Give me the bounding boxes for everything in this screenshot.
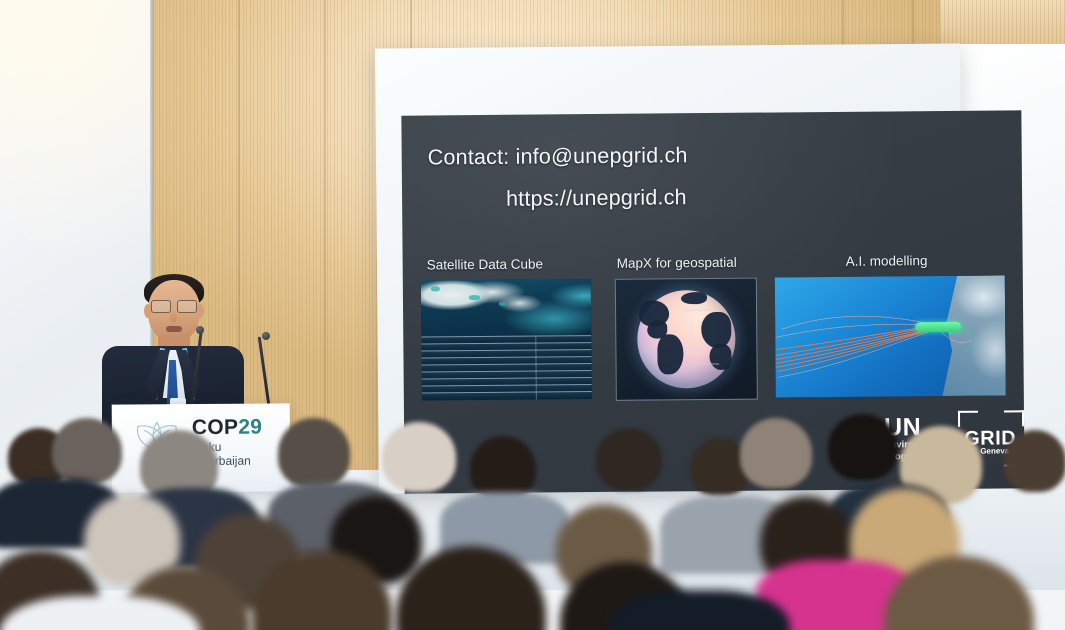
globe: North Atlantic Ocean South Atlantic Ocea… [637,290,736,389]
highlighted-vessel [915,322,961,332]
vessel-track-lines [775,275,1006,397]
website-url-line: https://unepgrid.ch [506,185,687,212]
data-cube-slices [421,335,592,400]
audience-head [828,414,898,480]
mapx-globe-graphic: North Atlantic Ocean South Atlantic Ocea… [615,278,758,401]
satellite-data-cube-graphic [421,279,592,400]
audience [0,400,1065,630]
upper-right-wood-strip [940,0,1065,44]
microphone-head-right [262,332,270,340]
audience-head [596,428,662,490]
audience-head [52,418,122,484]
ai-modelling-graphic [775,275,1006,397]
contact-email-line: Contact: info@unepgrid.ch [428,143,688,170]
audience-head [278,418,350,488]
conference-photo: Contact: info@unepgrid.ch https://unepgr… [0,0,1065,630]
audience-head [382,422,456,492]
panel-title-mapx: MapX for geospatial [617,255,737,271]
satellite-image [421,279,591,336]
audience-head [740,418,812,488]
audience-head [470,436,536,500]
panel-title-satellite-data-cube: Satellite Data Cube [427,256,543,272]
microphone-head-left [196,326,204,334]
audience-head [1004,430,1065,492]
panel-title-ai-modelling: A.I. modelling [846,253,928,269]
